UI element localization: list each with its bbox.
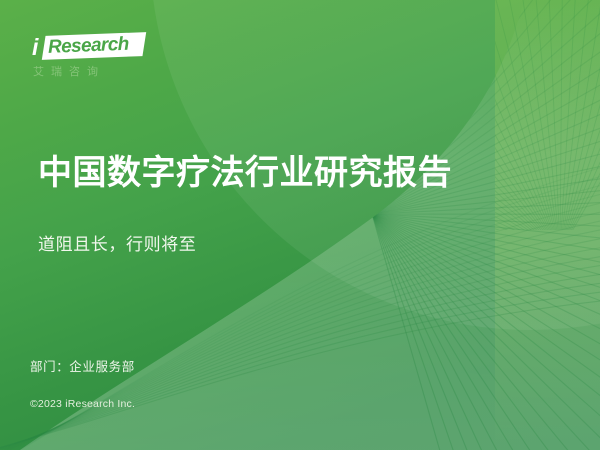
iresearch-logo: i Research 艾瑞咨询: [30, 33, 150, 85]
page-title: 中国数字疗法行业研究报告: [38, 155, 452, 192]
report-cover-slide: i Research 艾瑞咨询 中国数字疗法行业研究报告 道阻且长，行则将至 部…: [0, 0, 600, 450]
copyright-notice: ©2023 iResearch Inc.: [30, 398, 135, 410]
department-label: 部门：企业服务部: [30, 356, 135, 375]
logo-chinese-name: 艾瑞咨询: [33, 63, 105, 79]
logo-mark: i Research: [30, 33, 150, 61]
page-subtitle: 道阻且长，行则将至: [38, 230, 196, 255]
logo-wordmark: Research: [48, 33, 145, 59]
logo-letter-i: i: [32, 33, 38, 61]
